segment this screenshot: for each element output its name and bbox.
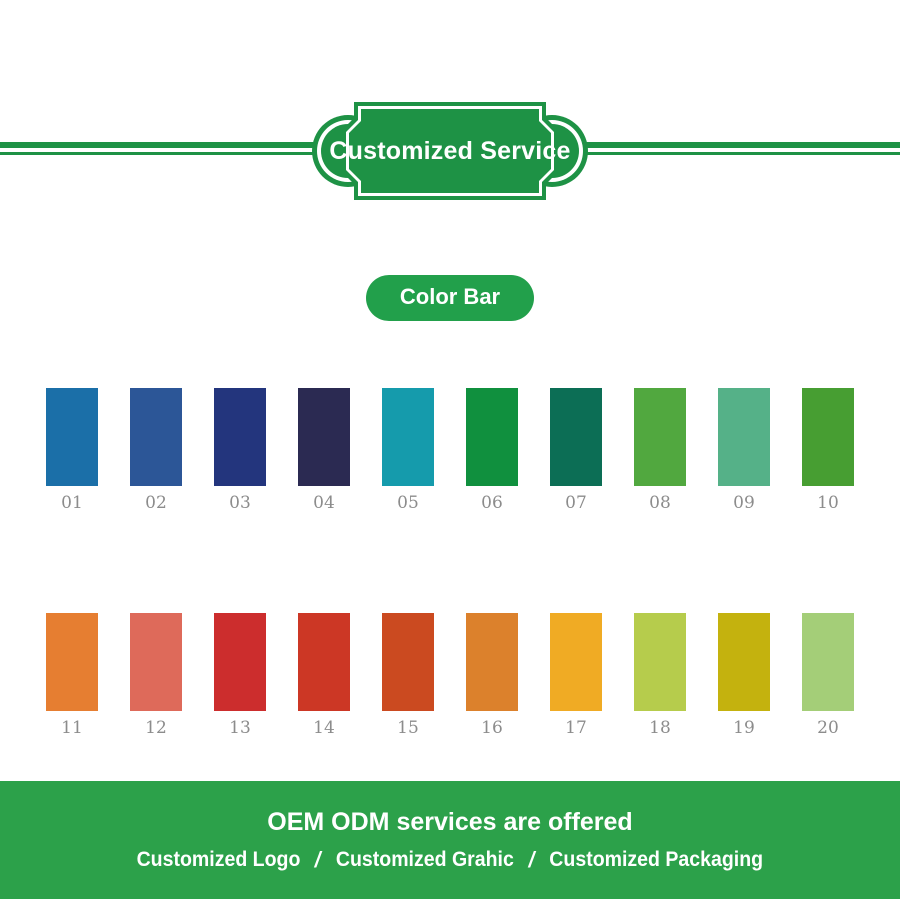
- swatch-chip[interactable]: [298, 388, 350, 486]
- swatch-chip[interactable]: [802, 613, 854, 711]
- swatch-chip[interactable]: [466, 388, 518, 486]
- color-bar-pill-wrap: Color Bar: [0, 275, 900, 321]
- swatch-cell[interactable]: 06: [466, 388, 518, 512]
- swatch-label: 10: [817, 495, 839, 512]
- swatch-label: 13: [229, 720, 251, 737]
- swatch-cell[interactable]: 16: [466, 613, 518, 737]
- swatch-chip[interactable]: [46, 388, 98, 486]
- swatch-chip[interactable]: [130, 388, 182, 486]
- swatch-cell[interactable]: 15: [382, 613, 434, 737]
- footer-service-item: Customized Grahic: [336, 849, 514, 870]
- swatch-cell[interactable]: 07: [550, 388, 602, 512]
- swatch-cell[interactable]: 02: [130, 388, 182, 512]
- swatch-label: 06: [481, 495, 503, 512]
- swatch-chip[interactable]: [550, 613, 602, 711]
- swatch-cell[interactable]: 04: [298, 388, 350, 512]
- swatch-label: 08: [649, 495, 671, 512]
- swatch-cell[interactable]: 03: [214, 388, 266, 512]
- swatch-label: 07: [565, 495, 587, 512]
- swatch-label: 05: [397, 495, 419, 512]
- swatch-label: 17: [565, 720, 587, 737]
- swatch-cell[interactable]: 13: [214, 613, 266, 737]
- swatch-chip[interactable]: [634, 388, 686, 486]
- footer-service-list: Customized Logo/Customized Grahic/Custom…: [137, 849, 764, 871]
- swatch-cell[interactable]: 05: [382, 388, 434, 512]
- swatch-chip[interactable]: [382, 613, 434, 711]
- footer-banner: OEM ODM services are offered Customized …: [0, 781, 900, 899]
- footer-service-item: Customized Logo: [137, 849, 301, 870]
- swatch-label: 11: [61, 720, 83, 737]
- swatch-label: 04: [313, 495, 335, 512]
- swatch-label: 16: [481, 720, 503, 737]
- swatch-chip[interactable]: [46, 613, 98, 711]
- swatch-label: 19: [733, 720, 755, 737]
- swatch-chip[interactable]: [550, 388, 602, 486]
- footer-headline: OEM ODM services are offered: [267, 810, 632, 835]
- swatch-cell[interactable]: 08: [634, 388, 686, 512]
- swatch-chip[interactable]: [802, 388, 854, 486]
- swatch-chip[interactable]: [466, 613, 518, 711]
- swatch-label: 02: [145, 495, 167, 512]
- swatch-chip[interactable]: [130, 613, 182, 711]
- swatch-label: 20: [817, 720, 839, 737]
- swatch-cell[interactable]: 14: [298, 613, 350, 737]
- footer-separator: /: [527, 849, 537, 871]
- color-bar-pill: Color Bar: [366, 275, 534, 321]
- swatch-chip[interactable]: [718, 388, 770, 486]
- footer-separator: /: [313, 849, 323, 871]
- color-swatch-grid: 01020304050607080910 1112131415161718192…: [0, 388, 900, 737]
- header-plaque: Customized Service: [300, 96, 600, 206]
- swatch-cell[interactable]: 09: [718, 388, 770, 512]
- swatch-chip[interactable]: [634, 613, 686, 711]
- swatch-cell[interactable]: 10: [802, 388, 854, 512]
- swatch-row-top: 01020304050607080910: [0, 388, 900, 512]
- swatch-label: 12: [145, 720, 167, 737]
- swatch-label: 18: [649, 720, 671, 737]
- swatch-cell[interactable]: 17: [550, 613, 602, 737]
- swatch-label: 09: [733, 495, 755, 512]
- swatch-chip[interactable]: [298, 613, 350, 711]
- swatch-cell[interactable]: 18: [634, 613, 686, 737]
- swatch-chip[interactable]: [718, 613, 770, 711]
- swatch-cell[interactable]: 12: [130, 613, 182, 737]
- swatch-cell[interactable]: 01: [46, 388, 98, 512]
- swatch-chip[interactable]: [214, 388, 266, 486]
- swatch-cell[interactable]: 20: [802, 613, 854, 737]
- header-banner: Customized Service: [0, 96, 900, 206]
- header-title: Customized Service: [300, 96, 600, 206]
- swatch-chip[interactable]: [214, 613, 266, 711]
- swatch-chip[interactable]: [382, 388, 434, 486]
- swatch-label: 15: [397, 720, 419, 737]
- swatch-cell[interactable]: 11: [46, 613, 98, 737]
- swatch-label: 01: [61, 495, 83, 512]
- footer-service-item: Customized Packaging: [549, 849, 763, 870]
- swatch-label: 03: [229, 495, 251, 512]
- swatch-label: 14: [313, 720, 335, 737]
- swatch-cell[interactable]: 19: [718, 613, 770, 737]
- swatch-row-bottom: 11121314151617181920: [0, 613, 900, 737]
